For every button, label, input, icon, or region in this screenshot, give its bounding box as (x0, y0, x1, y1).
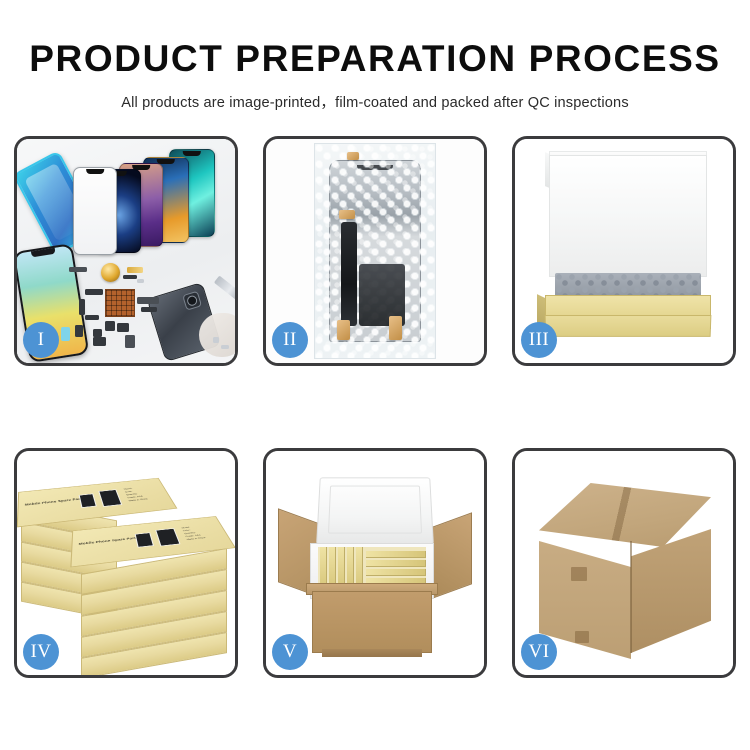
white-box-lid (549, 155, 707, 277)
step-badge-5: V (272, 634, 308, 670)
spare-part (125, 335, 135, 348)
adhesive-tab (389, 316, 402, 340)
foam-lid (316, 477, 434, 544)
logic-board-grid (105, 289, 135, 317)
carton-tab (571, 567, 587, 581)
spare-part (75, 325, 83, 337)
spare-part (69, 267, 87, 272)
notch (86, 169, 104, 174)
step-card-4: Mobile Phone Spare Parts Model: Color: Q… (14, 448, 238, 678)
step-card-1: I (14, 136, 238, 366)
spare-part (123, 275, 137, 279)
spare-part (141, 307, 157, 312)
adhesive-tab (337, 320, 350, 340)
hand (199, 313, 235, 357)
step-card-3: III (512, 136, 736, 366)
spare-part (93, 337, 106, 346)
step-badge-6: VI (521, 634, 557, 670)
flex-cable (341, 222, 357, 326)
step-5-illustration: V (266, 451, 484, 675)
spare-part (137, 279, 144, 283)
notch (31, 248, 55, 258)
step-badge-2: II (272, 322, 308, 358)
step-badge-4: IV (23, 634, 59, 670)
page-title: PRODUCT PREPARATION PROCESS (0, 40, 750, 79)
notch (183, 151, 201, 156)
carton-bottom-edge (322, 649, 422, 657)
spare-part (105, 321, 115, 331)
step-badge-1: I (23, 322, 59, 358)
spare-part (85, 315, 99, 320)
packed-box (366, 569, 426, 576)
carton-right-face (631, 529, 711, 653)
step-badge-3: III (521, 322, 557, 358)
spare-part (213, 337, 219, 343)
gold-speaker-coil (101, 263, 120, 282)
spare-part (117, 323, 129, 332)
spare-part (137, 297, 159, 304)
page-header: PRODUCT PREPARATION PROCESS All products… (0, 0, 750, 112)
carton-tab (575, 631, 589, 643)
spare-part (61, 327, 70, 341)
step-6-illustration: VI (515, 451, 733, 675)
camera-module (182, 291, 202, 311)
step-2-illustration: II (266, 139, 484, 363)
carton-front-panel (312, 591, 432, 653)
process-step-grid: I II (14, 136, 736, 678)
spare-part (79, 299, 85, 315)
spare-part (221, 345, 229, 349)
step-3-illustration: III (515, 139, 733, 363)
step-card-2: II (263, 136, 487, 366)
step-1-illustration: I (17, 139, 235, 363)
adhesive-tab (347, 152, 359, 160)
carton-corner-seam (630, 541, 632, 653)
spare-part (93, 329, 102, 337)
packed-box (366, 551, 426, 558)
bubble-wrap-bag (314, 143, 436, 359)
phone-screen-protector-white (73, 167, 117, 255)
spare-part (127, 267, 143, 273)
kraft-box-tray-front (545, 315, 712, 337)
phone-display-fan (89, 147, 235, 252)
page-subtitle: All products are image-printed，film-coat… (0, 91, 750, 112)
step-card-5: V (263, 448, 487, 678)
packed-box (366, 560, 426, 567)
step-4-illustration: Mobile Phone Spare Parts Model: Color: Q… (17, 451, 235, 675)
step-card-6: VI (512, 448, 736, 678)
adhesive-tab (339, 210, 355, 219)
spare-part (85, 289, 103, 295)
carton-tape-seam (539, 483, 711, 547)
